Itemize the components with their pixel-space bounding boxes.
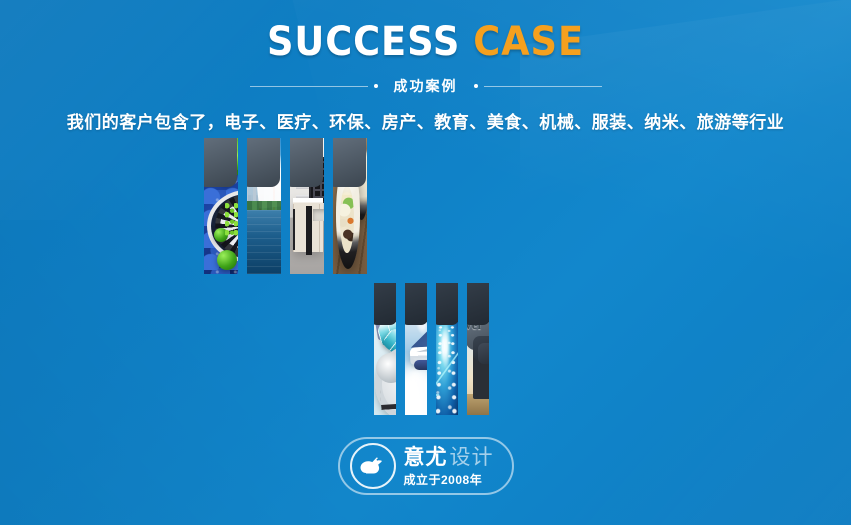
page-title: SUCCESSCASE <box>34 22 817 62</box>
divider-rule-right <box>484 86 602 87</box>
logo-text: 意尤设计 成立于2008年 <box>404 447 494 486</box>
control-panel <box>309 157 324 203</box>
tree-line <box>247 201 281 210</box>
lab-equipment-image <box>290 138 324 274</box>
light-burst <box>441 320 451 373</box>
case-tile-environment[interactable] <box>247 138 281 274</box>
case-tile-lab-equipment[interactable] <box>290 138 324 274</box>
logo-established-year: 成立于2008年 <box>404 474 494 486</box>
subtitle-cn: 成功案例 <box>384 76 468 96</box>
water-surface <box>247 210 281 274</box>
logo-company-name: 意尤设计 <box>404 447 494 468</box>
airplane-engine <box>414 360 427 370</box>
case-gallery: Aviation >> <box>0 138 851 415</box>
medical-image <box>374 283 396 415</box>
success-case-banner: SUCCESSCASE 成功案例 我们的客户包含了，电子、医疗、环保、房产、教育… <box>0 0 851 525</box>
digital-tech-image <box>436 283 458 415</box>
cirrus-cloud <box>413 306 428 337</box>
case-tile-nanotech[interactable] <box>204 138 238 274</box>
title-word-case: CASE <box>473 19 584 65</box>
molecule-sphere <box>218 168 235 185</box>
divider-rule-left <box>250 86 368 87</box>
tile-caption-aviation: Aviation >> <box>417 293 427 323</box>
molecule-sphere <box>212 138 239 172</box>
side-bowl <box>338 141 347 176</box>
food-image <box>333 138 367 274</box>
case-tile-food[interactable] <box>333 138 367 274</box>
travel-image <box>467 283 489 415</box>
sun-icon <box>253 157 267 171</box>
nanotech-image <box>204 138 238 274</box>
swan-bird-icon <box>358 451 388 481</box>
logo-name-light: 设计 <box>450 446 494 469</box>
case-tile-aviation[interactable]: Aviation >> <box>405 283 427 415</box>
hiker-silhouette <box>482 349 489 399</box>
logo-name-bold: 意尤 <box>404 446 448 469</box>
divider-dot-left <box>374 84 378 88</box>
lab-cabinet <box>306 206 311 255</box>
subtitle-divider: 成功案例 <box>250 77 602 95</box>
aviation-image <box>405 283 427 415</box>
logo-mark <box>350 443 396 489</box>
gallery-row-2: Aviation >> <box>0 283 851 415</box>
tile-caption-travel: 旅游Travel <box>467 301 481 333</box>
case-tile-digital-tech[interactable] <box>436 283 458 415</box>
environment-image <box>247 138 281 274</box>
molecule-sphere <box>231 149 238 171</box>
molecule-sphere <box>217 250 237 270</box>
gallery-row-1 <box>0 138 851 274</box>
lab-cabinet <box>293 209 295 250</box>
case-tile-medical[interactable] <box>374 283 396 415</box>
hotpot-contents <box>340 186 354 253</box>
lab-sink <box>313 209 325 221</box>
molecule-particles <box>225 203 238 237</box>
molecule-sphere <box>222 141 238 175</box>
title-word-success: SUCCESS <box>267 19 460 65</box>
divider-dot-right <box>474 84 478 88</box>
case-tile-travel[interactable]: 旅游Travel <box>467 283 489 415</box>
steam <box>339 143 360 195</box>
banner-header: SUCCESSCASE 成功案例 我们的客户包含了，电子、医疗、环保、房产、教育… <box>0 0 851 133</box>
company-logo[interactable]: 意尤设计 成立于2008年 <box>338 437 514 495</box>
smoke-plume <box>253 140 281 209</box>
tagline-text: 我们的客户包含了，电子、医疗、环保、房产、教育、美食、机械、服装、纳米、旅游等行… <box>0 108 851 133</box>
